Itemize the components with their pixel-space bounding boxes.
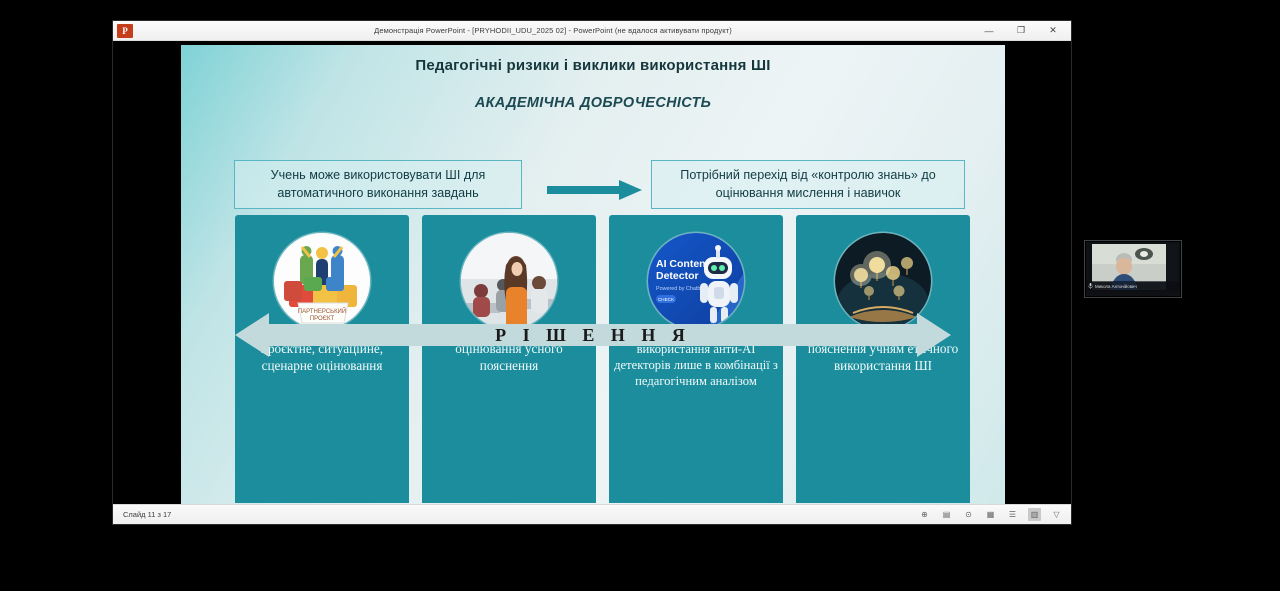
- powerpoint-logo-icon: P: [117, 24, 133, 38]
- slide-title: Педагогічні ризики і виклики використанн…: [181, 57, 1005, 74]
- slide-subtitle: АКАДЕМІЧНА ДОБРОЧЕСНІСТЬ: [181, 95, 1005, 111]
- screen-capture: P Демонстрація PowerPoint - [PRYHODII_UD…: [0, 0, 1280, 591]
- slide-canvas: Педагогічні ризики і виклики використанн…: [181, 45, 1005, 504]
- microphone-icon: [1088, 283, 1093, 289]
- callout-problem: Учень може використовувати ШІ для автома…: [234, 160, 522, 209]
- close-button[interactable]: ✕: [1037, 21, 1069, 41]
- window-title: Демонстрація PowerPoint - [PRYHODII_UDU_…: [133, 26, 973, 35]
- slideshow-stage[interactable]: Педагогічні ризики і виклики використанн…: [113, 41, 1072, 506]
- callout-solution: Потрібний перехід від «контролю знань» д…: [651, 160, 965, 209]
- slide-counter: Слайд 11 з 17: [123, 510, 171, 519]
- maximize-button[interactable]: ❐: [1005, 21, 1037, 41]
- options-icon[interactable]: ▽: [1050, 508, 1063, 521]
- powerpoint-window: P Демонстрація PowerPoint - [PRYHODII_UD…: [112, 20, 1072, 525]
- right-arrow-icon: [547, 179, 643, 201]
- solution-label: Р І Ш Е Н Н Я: [235, 310, 951, 360]
- status-bar-icons: ⊕ ▤ ⊙ ▦ ☰ ▥ ▽: [918, 508, 1063, 521]
- window-titlebar[interactable]: P Демонстрація PowerPoint - [PRYHODII_UD…: [113, 21, 1071, 41]
- participant-name: Микола Антонійович: [1095, 284, 1137, 289]
- slide-menu-icon[interactable]: ▦: [984, 508, 997, 521]
- svg-text:CHECK: CHECK: [658, 297, 675, 302]
- pen-icon[interactable]: ▤: [940, 508, 953, 521]
- highlighter-icon[interactable]: ⊙: [962, 508, 975, 521]
- powerpoint-status-bar: Слайд 11 з 17 ⊕ ▤ ⊙ ▦ ☰ ▥ ▽: [113, 504, 1072, 524]
- svg-text:AI Content: AI Content: [656, 258, 710, 270]
- minimize-button[interactable]: —: [973, 21, 1005, 41]
- zoom-icon[interactable]: ▥: [1028, 508, 1041, 521]
- svg-text:Powered by Chatbot: Powered by Chatbot: [656, 286, 705, 292]
- svg-text:Detector: Detector: [656, 270, 699, 282]
- all-slides-icon[interactable]: ☰: [1006, 508, 1019, 521]
- solution-banner: Р І Ш Е Н Н Я: [235, 310, 951, 360]
- participant-name-badge: Микола Антонійович: [1086, 281, 1180, 291]
- pointer-icon[interactable]: ⊕: [918, 508, 931, 521]
